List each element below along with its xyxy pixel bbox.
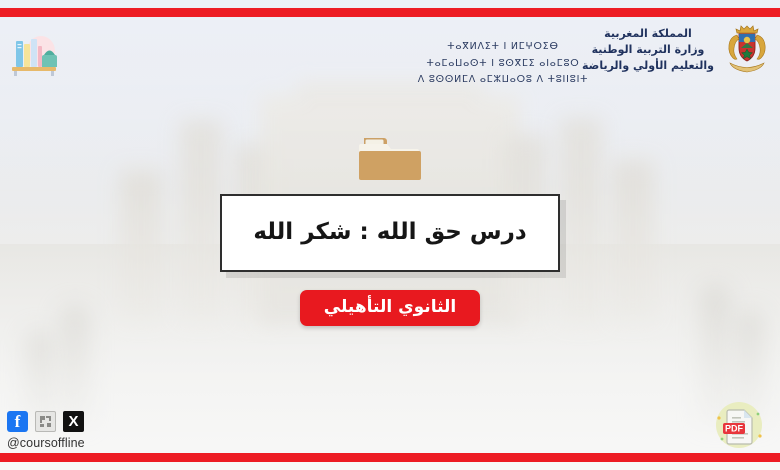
page-title: درس حق الله : شكر الله: [253, 217, 526, 248]
bookshelf-icon[interactable]: [8, 32, 60, 80]
poster-canvas: ⵜⴰⴳⵍⴷⵉⵜ ⵏ ⵍⵎⵖⵔⵉⴱ ⵜⴰⵎⴰⵡⴰⵙⵜ ⵏ ⵓⵙⴳⵎⵉ ⴰⵏⴰⵎⵓⵔ…: [0, 0, 780, 470]
header: ⵜⴰⴳⵍⴷⵉⵜ ⵏ ⵍⵎⵖⵔⵉⴱ ⵜⴰⵎⴰⵡⴰⵙⵜ ⵏ ⵓⵙⴳⵎⵉ ⴰⵏⴰⵎⵓⵔ…: [0, 17, 780, 89]
pdf-file-icon[interactable]: PDF: [712, 398, 766, 452]
status-badge[interactable]: الثانوي التأهيلي: [300, 290, 480, 326]
bottom-red-rule: [0, 453, 780, 462]
broken-image-icon[interactable]: [35, 411, 56, 432]
broken-image-glyph: [36, 412, 55, 431]
lesson-title-card: درس حق الله : شكر الله: [220, 194, 560, 272]
ministry-line-2: وزارة التربية الوطنية: [582, 42, 714, 58]
ministry-name-tifinagh: ⵜⴰⴳⵍⴷⵉⵜ ⵏ ⵍⵎⵖⵔⵉⴱ ⵜⴰⵎⴰⵡⴰⵙⵜ ⵏ ⵓⵙⴳⵎⵉ ⴰⵏⴰⵎⵓⵔ…: [408, 39, 598, 89]
tifinagh-line-2: ⵜⴰⵎⴰⵡⴰⵙⵜ ⵏ ⵓⵙⴳⵎⵉ ⴰⵏⴰⵎⵓⵔ: [408, 56, 598, 73]
x-twitter-icon[interactable]: [63, 411, 84, 432]
social-handle[interactable]: @coursoffline: [7, 436, 85, 450]
ministry-name-arabic: المملكة المغربية وزارة التربية الوطنية و…: [582, 26, 714, 74]
tifinagh-line-1: ⵜⴰⴳⵍⴷⵉⵜ ⵏ ⵍⵎⵖⵔⵉⴱ: [408, 39, 598, 56]
ministry-line-3: والتعليم الأولي والرياضة: [582, 58, 714, 74]
lesson-card-group: درس حق الله : شكر الله الثانوي التأهيلي: [0, 130, 780, 326]
facebook-icon[interactable]: [7, 411, 28, 432]
pdf-label: PDF: [725, 423, 744, 433]
social-icons: [7, 411, 85, 432]
ministry-line-1: المملكة المغربية: [582, 26, 714, 42]
social-block: @coursoffline: [7, 411, 85, 450]
top-red-rule: [0, 8, 780, 17]
tifinagh-line-3: ⴷ ⵓⵙⵙⵍⵎⴷ ⴰⵎⵣⵡⴰⵔⵓ ⴷ ⵜⵓⵏⵏⵓⵏⵜ: [408, 72, 598, 89]
morocco-coat-of-arms-icon: [722, 21, 772, 79]
folder-icon: [356, 130, 424, 186]
ministry-identity: المملكة المغربية وزارة التربية الوطنية و…: [582, 21, 772, 79]
